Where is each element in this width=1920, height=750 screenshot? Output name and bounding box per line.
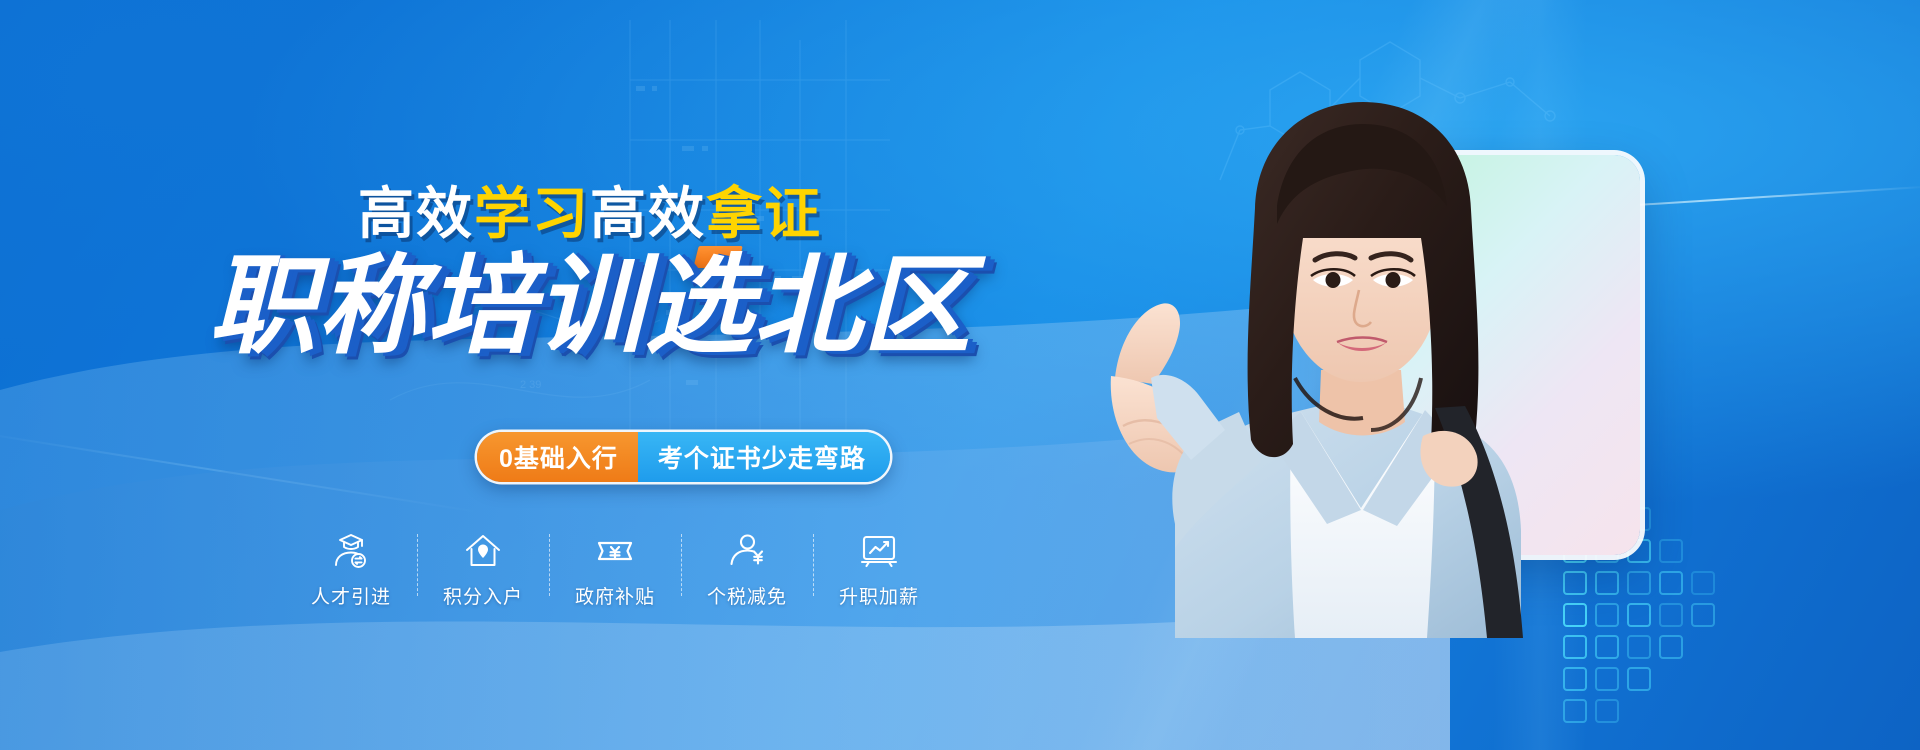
headline-line-2: 职称培训选北区	[0, 252, 1180, 360]
feature-row: 人才引进 积分入户	[285, 530, 945, 630]
promo-banner: 2 39	[0, 0, 1920, 750]
copy-block: 高效学习高效拿证 职称培训选北区 0基础入行 考个证书少走弯路	[0, 0, 1180, 750]
feature-label: 个税减免	[707, 582, 787, 609]
growth-chart-board-icon	[859, 530, 899, 572]
headline-seg-4: 拿证	[706, 182, 822, 245]
feature-label: 人才引进	[311, 582, 391, 609]
headline-seg-2: 学习	[474, 182, 590, 245]
pill-right-label: 考个证书少走弯路	[638, 432, 890, 482]
feature-label: 升职加薪	[839, 582, 919, 609]
feature-item-points-residency[interactable]: 积分入户	[417, 530, 549, 609]
feature-item-tax-reduction[interactable]: 个税减免	[681, 530, 813, 609]
avatar	[1105, 78, 1605, 638]
feature-item-talent-import[interactable]: 人才引进	[285, 530, 417, 609]
feature-label: 政府补贴	[575, 582, 655, 609]
feature-label: 积分入户	[443, 582, 523, 609]
headline-line-1: 高效学习高效拿证	[0, 186, 1180, 242]
house-pin-icon	[463, 530, 503, 572]
feature-item-government-subsidy[interactable]: 政府补贴	[549, 530, 681, 609]
tagline-pill[interactable]: 0基础入行 考个证书少走弯路	[477, 432, 890, 482]
headline-seg-1: 高效	[358, 182, 474, 245]
feature-item-promotion-raise[interactable]: 升职加薪	[813, 530, 945, 609]
person-yuan-icon	[727, 530, 767, 572]
yuan-ticket-icon	[595, 530, 635, 572]
headline-seg-3: 高效	[590, 182, 706, 245]
pill-left-label: 0基础入行	[477, 432, 638, 482]
graduate-person-icon	[331, 530, 371, 572]
